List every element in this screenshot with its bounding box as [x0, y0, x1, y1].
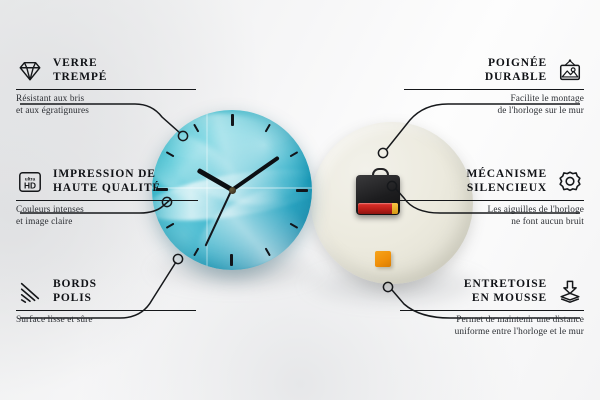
callout-entretoise-en-mousse: ENTRETOISE EN MOUSSE Permet de maintenir… — [400, 278, 584, 338]
callout-bords-polis: BORDS POLIS Surface lisse et sûre — [16, 278, 196, 327]
callout-desc-line: Permet de maintenir une distance — [400, 315, 584, 326]
callout-title: VERRE TREMPÉ — [53, 57, 107, 84]
callout-desc-line: de l'horloge sur le mur — [404, 106, 584, 117]
callout-poignee-durable: POIGNÉE DURABLE Facilite le montage de l… — [404, 57, 584, 117]
clock-tick — [231, 190, 233, 266]
callout-desc-line: Couleurs intenses — [16, 205, 198, 216]
clock-tick — [232, 189, 308, 191]
callout-title: ENTRETOISE EN MOUSSE — [464, 278, 547, 305]
connector-dot-bords — [173, 254, 182, 263]
callout-header: MÉCANISME SILENCIEUX — [400, 168, 584, 195]
callout-header: ENTRETOISE EN MOUSSE — [400, 278, 584, 305]
callout-divider — [16, 89, 196, 90]
foam-spacer-pad — [375, 251, 391, 267]
callout-title: IMPRESSION DE HAUTE QUALITÉ — [53, 168, 161, 195]
hand-center-cap — [229, 187, 236, 194]
callout-title: POIGNÉE DURABLE — [485, 57, 547, 84]
callout-desc-line: et image claire — [16, 217, 198, 228]
callout-impression-haute-qualite: ultra HD IMPRESSION DE HAUTE QUALITÉ Cou… — [16, 168, 198, 228]
clock-tick — [231, 114, 233, 190]
ultra-hd-icon: ultra HD — [16, 169, 44, 195]
callout-desc-line: uniforme entre l'horloge et le mur — [400, 327, 584, 338]
callout-desc-line: Facilite le montage — [404, 94, 584, 105]
callout-header: ultra HD IMPRESSION DE HAUTE QUALITÉ — [16, 168, 198, 195]
callout-mecanisme-silencieux: MÉCANISME SILENCIEUX Les aiguilles de l'… — [400, 168, 584, 228]
callout-desc-line: Surface lisse et sûre — [16, 315, 196, 326]
callout-title: MÉCANISME SILENCIEUX — [467, 168, 548, 195]
callout-header: POIGNÉE DURABLE — [404, 57, 584, 84]
callout-desc-line: ne font aucun bruit — [400, 217, 584, 228]
callout-desc-line: et aux égratignures — [16, 106, 196, 117]
gear-icon — [556, 169, 584, 195]
hanging-picture-icon — [556, 58, 584, 84]
callout-divider — [16, 200, 198, 201]
callout-divider — [400, 310, 584, 311]
callout-verre-trempe: VERRE TREMPÉ Résistant aux bris et aux é… — [16, 57, 196, 117]
polished-edge-icon — [16, 279, 44, 305]
callout-header: VERRE TREMPÉ — [16, 57, 196, 84]
callout-divider — [404, 89, 584, 90]
callout-desc-line: Les aiguilles de l'horloge — [400, 205, 584, 216]
callout-header: BORDS POLIS — [16, 278, 196, 305]
callout-title: BORDS POLIS — [53, 278, 97, 305]
battery-terminal — [392, 203, 398, 214]
svg-text:HD: HD — [24, 180, 36, 190]
diamond-icon — [16, 58, 44, 84]
callout-divider — [16, 310, 196, 311]
press-pad-icon — [556, 279, 584, 305]
infographic-canvas: VERRE TREMPÉ Résistant aux bris et aux é… — [0, 0, 600, 400]
callout-desc-line: Résistant aux bris — [16, 94, 196, 105]
callout-divider — [400, 200, 584, 201]
